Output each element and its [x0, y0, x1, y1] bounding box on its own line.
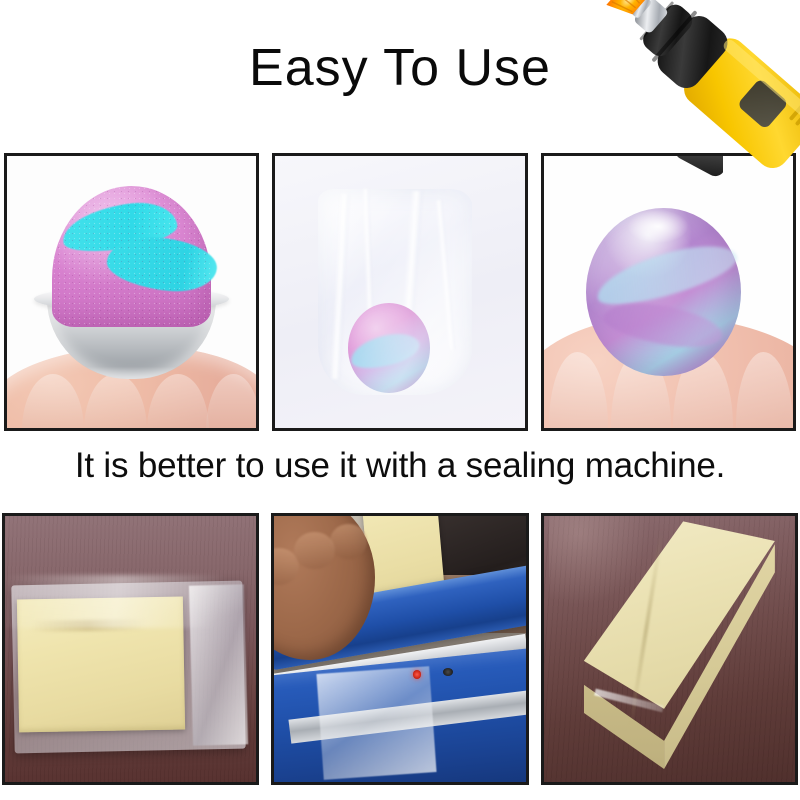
panel3-bomb-highlight [628, 210, 688, 243]
sheets-in-plastic-bag-photo [2, 513, 259, 785]
panel5-screw [443, 668, 453, 676]
caption-text: It is better to use it with a sealing ma… [0, 444, 800, 488]
panel5-knuckle [330, 524, 368, 559]
panel5-indicator-light [413, 670, 422, 679]
panel5-plastic-film [316, 666, 436, 780]
heat-gun-nozzle-icon [618, 156, 723, 191]
shrink-wrapped-bomb-heat-gun-photo [541, 153, 796, 431]
panel2-bag-sheen [318, 189, 473, 396]
page-title: Easy To Use [0, 38, 800, 98]
bath-bomb-in-clear-bag-photo [272, 153, 527, 431]
panel4-bag-shine [5, 575, 256, 628]
sealed-cream-block-photo [541, 513, 798, 785]
panel5-knuckle [294, 532, 334, 569]
top-photo-row [4, 153, 796, 431]
impulse-sealing-machine-photo [271, 513, 528, 785]
bath-bomb-in-mold-photo [4, 153, 259, 431]
bottom-photo-row [2, 513, 798, 785]
